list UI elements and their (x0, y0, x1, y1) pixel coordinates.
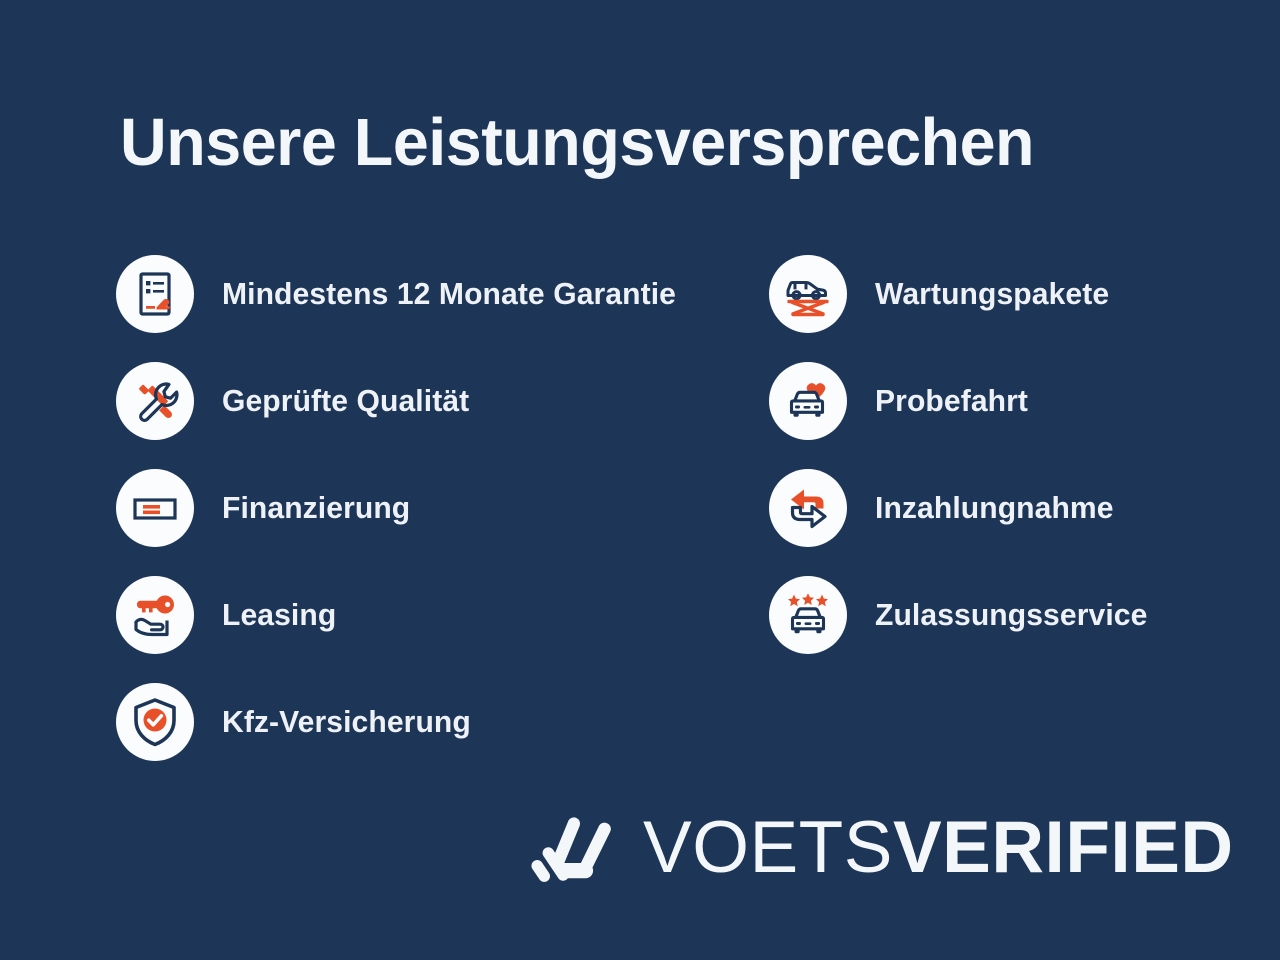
feature-item-probefahrt: Probefahrt (769, 362, 1269, 440)
promo-banner: Unsere Leistungsversprechen Mindestens (0, 0, 1280, 960)
voets-checkmark-v-icon (527, 801, 619, 893)
feature-item-inzahlungnahme: Inzahlungnahme (769, 469, 1269, 547)
car-stars-icon (769, 576, 847, 654)
feature-item-versicherung: Kfz-Versicherung (116, 683, 766, 761)
brand-wordmark: VOETSVERIFIED (643, 811, 1234, 884)
document-signature-icon (116, 255, 194, 333)
feature-label: Finanzierung (222, 490, 410, 526)
banknote-euro-icon (116, 469, 194, 547)
wrench-screwdriver-icon (116, 362, 194, 440)
feature-label: Mindestens 12 Monate Garantie (222, 276, 676, 312)
feature-item-qualitaet: Geprüfte Qualität (116, 362, 766, 440)
shield-check-icon (116, 683, 194, 761)
brand-word-voets: VOETS (643, 807, 893, 888)
feature-label: Kfz-Versicherung (222, 704, 471, 740)
feature-label: Geprüfte Qualität (222, 383, 469, 419)
feature-item-wartungspakete: Wartungspakete (769, 255, 1269, 333)
brand-logo: VOETSVERIFIED (527, 797, 1234, 897)
feature-column-right: Wartungspakete (769, 255, 1269, 683)
feature-label: Probefahrt (875, 383, 1028, 419)
car-heart-icon (769, 362, 847, 440)
feature-item-zulassungsservice: Zulassungsservice (769, 576, 1269, 654)
feature-column-left: Mindestens 12 Monate Garantie (116, 255, 766, 790)
feature-label: Inzahlungnahme (875, 490, 1114, 526)
feature-item-garantie: Mindestens 12 Monate Garantie (116, 255, 766, 333)
feature-item-leasing: Leasing (116, 576, 766, 654)
feature-label: Leasing (222, 597, 336, 633)
key-in-hand-icon (116, 576, 194, 654)
feature-item-finanzierung: Finanzierung (116, 469, 766, 547)
car-on-lift-icon (769, 255, 847, 333)
feature-label: Wartungspakete (875, 276, 1109, 312)
feature-label: Zulassungsservice (875, 597, 1147, 633)
exchange-arrows-icon (769, 469, 847, 547)
brand-word-verified: VERIFIED (893, 807, 1234, 888)
